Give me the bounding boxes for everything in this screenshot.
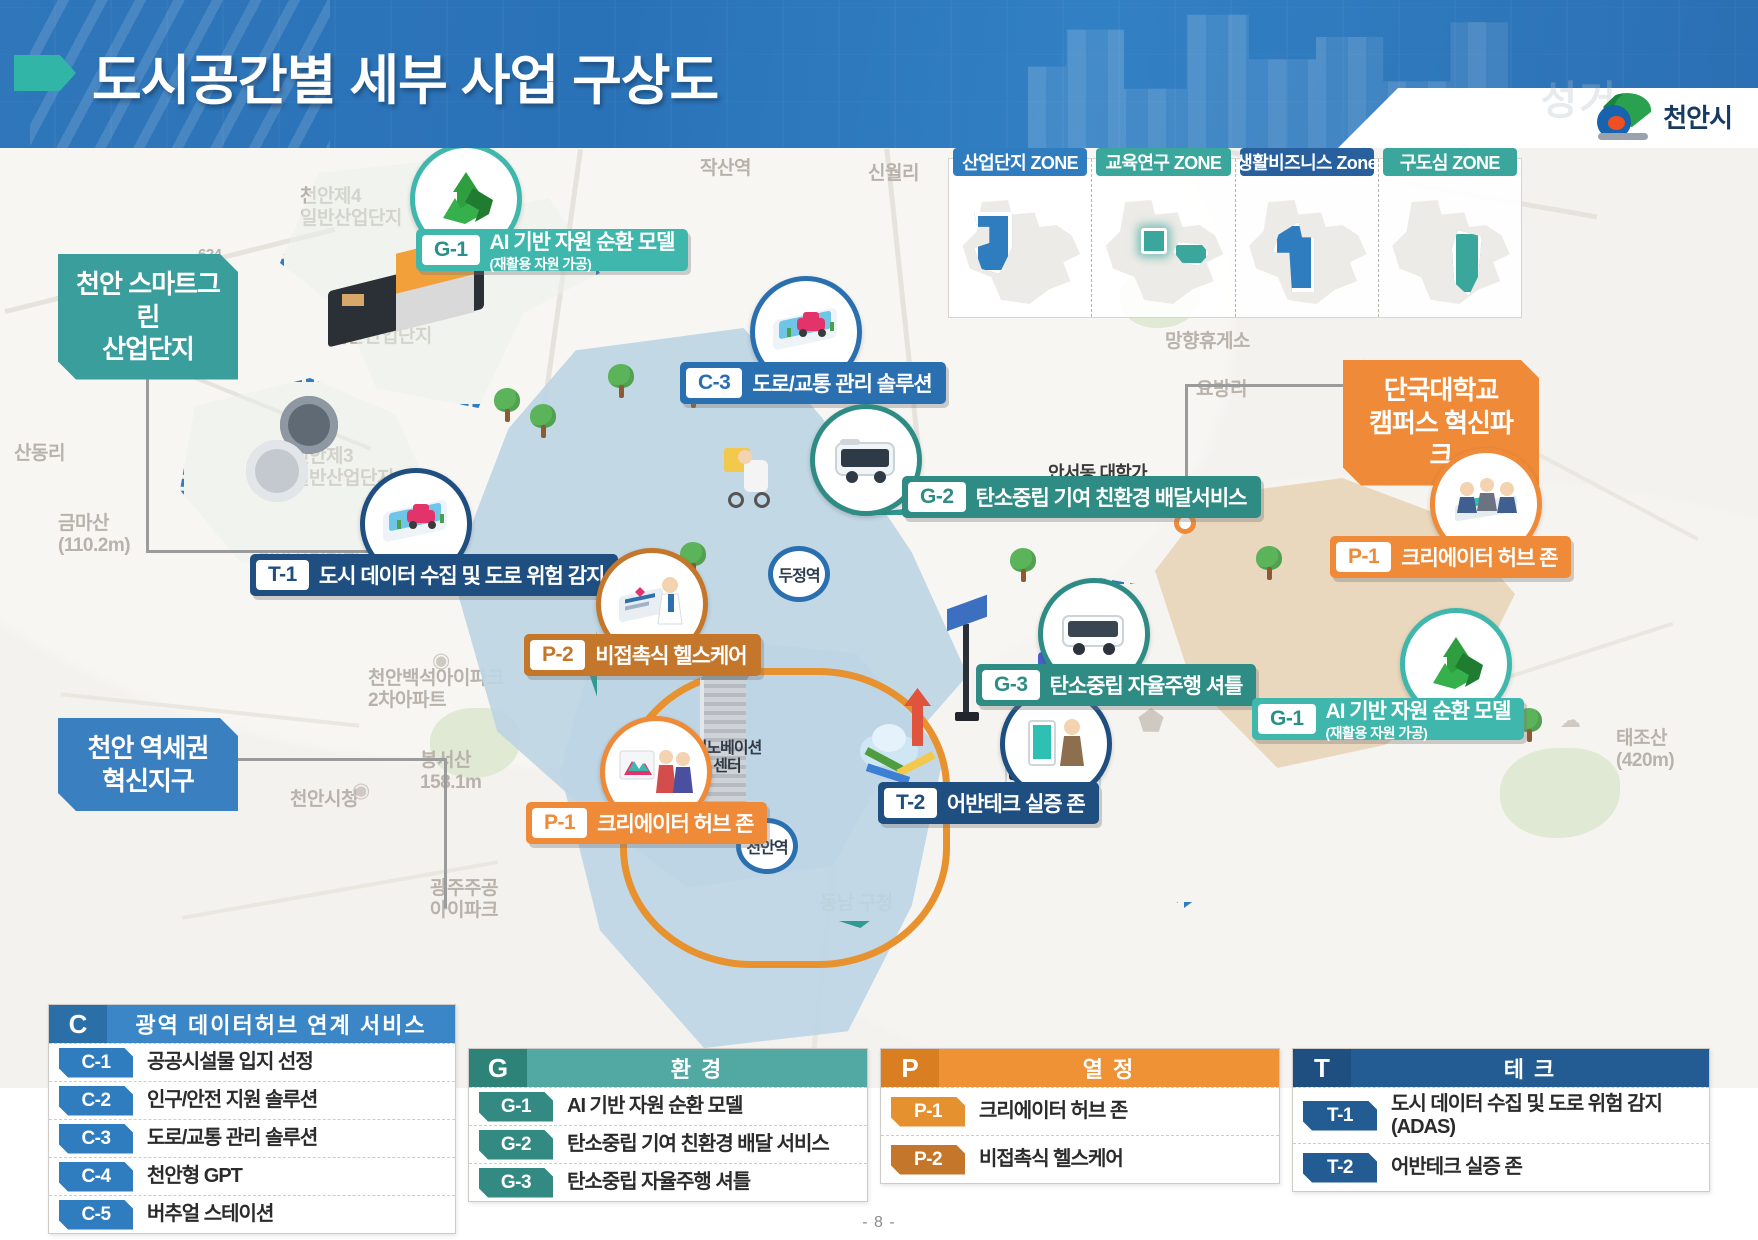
legend-row[interactable]: C-2 인구/안전 지원 솔루션 bbox=[49, 1081, 455, 1119]
callout-code: P-1 bbox=[1336, 542, 1391, 572]
callout-code: G-2 bbox=[908, 482, 966, 512]
map-poi-icon: ◉ bbox=[352, 778, 370, 803]
cheonan-city-logo: 천안시 bbox=[1595, 90, 1732, 142]
legend-row-name: 도로/교통 관리 솔루션 bbox=[147, 1127, 317, 1149]
legend-row[interactable]: G-1 AI 기반 자원 순환 모델 bbox=[469, 1087, 867, 1125]
slide-header: 도시공간별 세부 사업 구상도 성거 천안시 bbox=[0, 0, 1758, 148]
zone-thumbnail bbox=[1236, 189, 1378, 315]
legend-row-name: 크리에이터 허브 존 bbox=[979, 1100, 1127, 1122]
legend-row[interactable]: G-2 탄소중립 기여 친환경 배달 서비스 bbox=[469, 1125, 867, 1163]
legend-row-code: C-1 bbox=[59, 1048, 133, 1078]
legend-row-code: G-3 bbox=[479, 1168, 553, 1198]
legend-row[interactable]: T-1 도시 데이터 수집 및 도로 위험 감지 (ADAS) bbox=[1293, 1087, 1709, 1143]
legend-row-code: C-3 bbox=[59, 1124, 133, 1154]
legend-row-name: 비접촉식 헬스케어 bbox=[979, 1148, 1123, 1170]
legend-header: G 환 경 bbox=[469, 1049, 867, 1087]
legend-title: 광역 데이터허브 연계 서비스 bbox=[107, 1005, 455, 1043]
callout-label: AI 기반 자원 순환 모델 bbox=[1326, 700, 1511, 723]
legend-title: 환 경 bbox=[527, 1049, 867, 1087]
leader-line bbox=[1185, 384, 1347, 387]
callout-bar[interactable]: T-1 도시 데이터 수집 및 도로 위험 감지 bbox=[250, 554, 618, 596]
legend-row-code: P-1 bbox=[891, 1097, 965, 1127]
map-bg-label: 신월리 bbox=[868, 158, 919, 185]
zone-thumbnail bbox=[1092, 189, 1234, 315]
callout-label: 도시 데이터 수집 및 도로 위험 감지 bbox=[319, 560, 605, 590]
callout-label: 탄소중립 자율주행 셔틀 bbox=[1050, 670, 1243, 700]
legend-title: 테 크 bbox=[1351, 1049, 1709, 1087]
callout-label: 탄소중립 기여 친환경 배달서비스 bbox=[976, 482, 1247, 512]
area-plate-line2: 혁신지구 bbox=[102, 766, 194, 796]
callout-code: P-1 bbox=[532, 808, 587, 838]
callout-label: 어반테크 실증 존 bbox=[947, 788, 1085, 818]
legend-row-name: 천안형 GPT bbox=[147, 1165, 242, 1187]
legend-row[interactable]: G-3 탄소중립 자율주행 셔틀 bbox=[469, 1163, 867, 1201]
zone-legend-panel: 산업단지 ZONE 교육연구 ZONE 생활비즈니스 Zone bbox=[948, 158, 1522, 318]
map-bg-label: 광주주공 아이파크 bbox=[430, 878, 560, 922]
area-plate-station-innovation: 천안 역세권 혁신지구 bbox=[58, 718, 238, 811]
legend-row-name: 도시 데이터 수집 및 도로 위험 감지 (ADAS) bbox=[1391, 1093, 1662, 1138]
legend-row-name: 인구/안전 지원 솔루션 bbox=[147, 1089, 317, 1111]
slide-page: 도시공간별 세부 사업 구상도 성거 천안시 작산역 신월리 천안제4 일반산업… bbox=[0, 0, 1758, 1240]
area-plate-line1: 단국대학교 bbox=[1384, 375, 1499, 405]
legend-row-name: 어반테크 실증 존 bbox=[1391, 1156, 1522, 1178]
page-number: - 8 - bbox=[0, 1214, 1758, 1232]
legend-row-name: 탄소중립 자율주행 셔틀 bbox=[567, 1171, 750, 1193]
legend-row-code: C-2 bbox=[59, 1086, 133, 1116]
legend-row-code: P-2 bbox=[891, 1145, 965, 1175]
legend-letter: T bbox=[1293, 1049, 1351, 1087]
callout-code: G-3 bbox=[982, 670, 1040, 700]
legend-table-c: C 광역 데이터허브 연계 서비스 C-1 공공시설물 입지 선정 C-2 인구… bbox=[48, 1004, 456, 1234]
legend-row[interactable]: C-3 도로/교통 관리 솔루션 bbox=[49, 1119, 455, 1157]
callout-bar[interactable]: P-1 크리에이터 허브 존 bbox=[526, 802, 767, 844]
map-bg-label: 천안시청 bbox=[290, 784, 358, 811]
legend-row-code: T-2 bbox=[1303, 1153, 1377, 1183]
legend-table-t: T 테 크 T-1 도시 데이터 수집 및 도로 위험 감지 (ADAS) T-… bbox=[1292, 1048, 1710, 1192]
callout-sublabel: (재활용 자원 가공) bbox=[1326, 723, 1511, 743]
callout-bar[interactable]: C-3 도로/교통 관리 솔루션 bbox=[680, 362, 946, 404]
area-plate-line1: 천안 스마트그린 bbox=[76, 269, 220, 332]
legend-row[interactable]: C-1 공공시설물 입지 선정 bbox=[49, 1043, 455, 1081]
legend-row-code: G-1 bbox=[479, 1092, 553, 1122]
building-label-line2: 센터 bbox=[713, 758, 740, 775]
map-bg-label: 봉서산 158.1m bbox=[420, 750, 540, 794]
zone-legend-label: 교육연구 ZONE bbox=[1096, 148, 1230, 176]
cloud-data-arrows-illustration bbox=[860, 696, 950, 786]
zone-thumbnail bbox=[949, 189, 1091, 315]
legend-row[interactable]: P-2 비접촉식 헬스케어 bbox=[881, 1135, 1279, 1183]
callout-label: AI 기반 자원 순환 모델 bbox=[490, 231, 675, 254]
zone-legend-item-3[interactable]: 구도심 ZONE bbox=[1378, 159, 1521, 317]
callout-code: T-1 bbox=[256, 560, 309, 590]
city-emblem-icon bbox=[1595, 91, 1653, 141]
zone-legend-item-1[interactable]: 교육연구 ZONE bbox=[1091, 159, 1234, 317]
zone-thumbnail bbox=[1379, 189, 1521, 315]
map-bg-label: 산동리 bbox=[14, 438, 65, 465]
map-poi-icon: ◉ bbox=[432, 648, 450, 673]
station-marker-dujeong: 두정역 bbox=[768, 546, 830, 602]
legend-letter: P bbox=[881, 1049, 939, 1087]
callout-bar[interactable]: G-1 AI 기반 자원 순환 모델(재활용 자원 가공) bbox=[1252, 698, 1524, 740]
callout-bar[interactable]: T-2 어반테크 실증 존 bbox=[878, 782, 1099, 824]
zone-legend-item-2[interactable]: 생활비즈니스 Zone bbox=[1235, 159, 1378, 317]
legend-table-g: G 환 경 G-1 AI 기반 자원 순환 모델 G-2 탄소중립 기여 친환경… bbox=[468, 1048, 868, 1202]
callout-label: 비접촉식 헬스케어 bbox=[595, 640, 746, 670]
legend-letter: C bbox=[49, 1005, 107, 1043]
zone-legend-label: 구도심 ZONE bbox=[1383, 148, 1517, 176]
legend-row-name: 공공시설물 입지 선정 bbox=[147, 1051, 313, 1073]
map-bg-label: 작산역 bbox=[700, 153, 751, 180]
callout-bar[interactable]: G-1 AI 기반 자원 순환 모델(재활용 자원 가공) bbox=[416, 229, 688, 271]
map-bg-label: 요방리 bbox=[1196, 374, 1247, 401]
callout-code: P-2 bbox=[530, 640, 585, 670]
callout-code: T-2 bbox=[884, 788, 937, 818]
legend-header: C 광역 데이터허브 연계 서비스 bbox=[49, 1005, 455, 1043]
logo-label: 천안시 bbox=[1663, 98, 1732, 135]
legend-row-name: 탄소중립 기여 친환경 배달 서비스 bbox=[567, 1133, 829, 1155]
area-plate-line1: 천안 역세권 bbox=[88, 733, 209, 763]
callout-bar[interactable]: P-2 비접촉식 헬스케어 bbox=[524, 634, 761, 676]
callout-label: 도로/교통 관리 솔루션 bbox=[752, 368, 931, 398]
legend-header: T 테 크 bbox=[1293, 1049, 1709, 1087]
area-plate-line2: 산업단지 bbox=[102, 334, 194, 364]
legend-row[interactable]: C-4 천안형 GPT bbox=[49, 1157, 455, 1195]
smart-pole-illustration bbox=[945, 596, 989, 726]
map-poi-icon: ☁ bbox=[1560, 708, 1581, 733]
callout-code: C-3 bbox=[686, 368, 742, 398]
callout-bar[interactable]: P-1 크리에이터 허브 존 bbox=[1330, 536, 1571, 578]
callout-code: G-1 bbox=[422, 235, 480, 265]
callout-bar[interactable]: G-2 탄소중립 기여 친환경 배달서비스 bbox=[902, 476, 1261, 518]
area-plate-smartgreen-industrial: 천안 스마트그린 산업단지 bbox=[58, 254, 238, 380]
leader-line bbox=[238, 758, 446, 761]
page-title: 도시공간별 세부 사업 구상도 bbox=[92, 36, 718, 115]
callout-sublabel: (재활용 자원 가공) bbox=[490, 254, 675, 274]
callout-label: 크리에이터 허브 존 bbox=[1401, 542, 1557, 572]
concept-map: 작산역 신월리 천안제4 일반산업단지 624 천안제2 일반산업단지 망향휴게… bbox=[0, 148, 1758, 1088]
map-bg-label: 태조산 (420m) bbox=[1616, 728, 1736, 772]
delivery-scooter-illustration bbox=[718, 448, 774, 518]
zone-legend-label: 생활비즈니스 Zone bbox=[1240, 148, 1374, 176]
legend-row[interactable]: T-2 어반테크 실증 존 bbox=[1293, 1143, 1709, 1191]
leader-line bbox=[444, 758, 447, 908]
legend-table-p: P 열 정 P-1 크리에이터 허브 존 P-2 비접촉식 헬스케어 bbox=[880, 1048, 1280, 1184]
legend-row-code: T-1 bbox=[1303, 1101, 1377, 1131]
leader-line bbox=[146, 550, 402, 553]
legend-header: P 열 정 bbox=[881, 1049, 1279, 1087]
zone-legend-item-0[interactable]: 산업단지 ZONE bbox=[949, 159, 1091, 317]
legend-row-code: G-2 bbox=[479, 1130, 553, 1160]
legend-letter: G bbox=[469, 1049, 527, 1087]
callout-code: G-1 bbox=[1258, 704, 1316, 734]
legend-row-name: AI 기반 자원 순환 모델 bbox=[567, 1095, 742, 1117]
legend-row-code: C-4 bbox=[59, 1162, 133, 1192]
legend-title: 열 정 bbox=[939, 1049, 1279, 1087]
callout-bar[interactable]: G-3 탄소중립 자율주행 셔틀 bbox=[976, 664, 1256, 706]
gears-illustration bbox=[236, 396, 366, 506]
legend-row[interactable]: P-1 크리에이터 허브 존 bbox=[881, 1087, 1279, 1135]
zone-legend-label: 산업단지 ZONE bbox=[953, 148, 1087, 176]
map-bg-label: 망향휴게소 bbox=[1165, 326, 1250, 353]
callout-label: 크리에이터 허브 존 bbox=[597, 808, 753, 838]
